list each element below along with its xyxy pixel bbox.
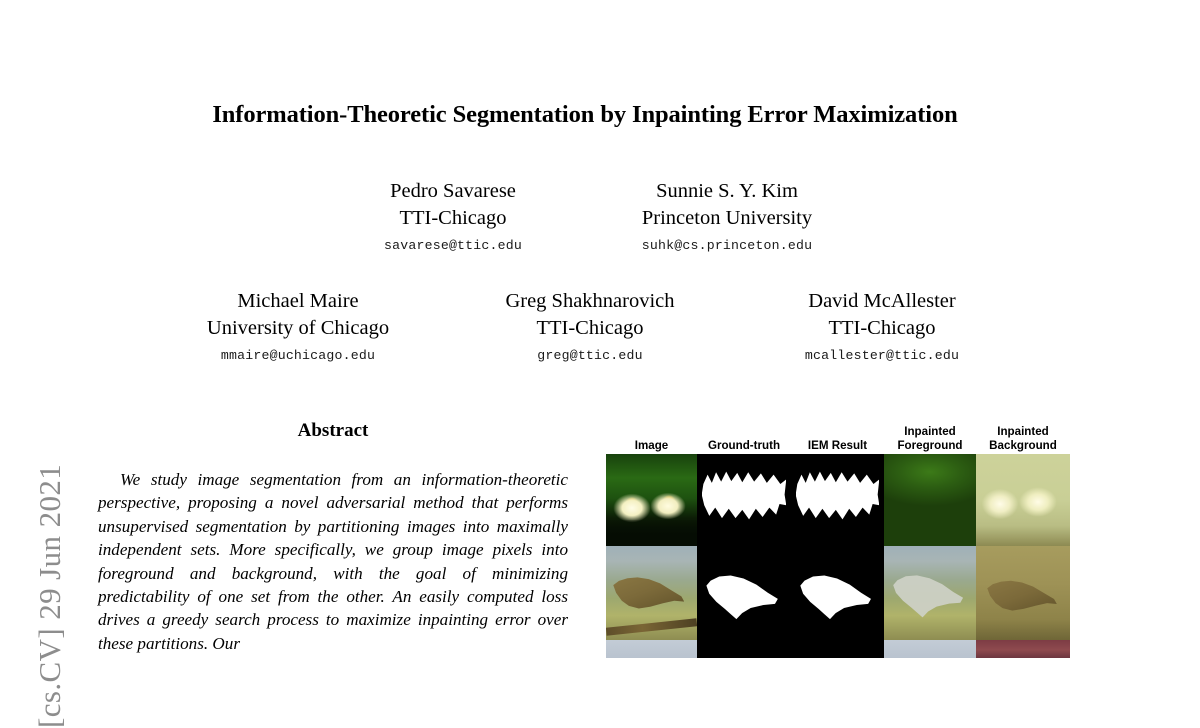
author-block-maire: Michael Maire University of Chicago mmai… (152, 288, 444, 367)
figure-cell-ground-truth-mask (697, 640, 791, 658)
figure-cell-inpainted-background (976, 454, 1070, 546)
figure-row-warbler-bird (606, 546, 1070, 640)
figure-column-header-ground-truth: Ground-truth (697, 439, 791, 455)
figure-column-header-inpainted-background: Inpainted Background (976, 425, 1070, 454)
header-line-2: Foreground (884, 439, 976, 453)
header-line-1: IEM Result (791, 439, 884, 453)
figure-cell-ground-truth-mask (697, 454, 791, 546)
page-title: Information-Theoretic Segmentation by In… (80, 100, 1090, 130)
header-line-1: Inpainted (976, 425, 1070, 439)
author-email[interactable]: suhk@cs.princeton.edu (602, 235, 852, 257)
author-affiliation: TTI-Chicago (456, 315, 724, 342)
author-block-kim: Sunnie S. Y. Kim Princeton University su… (590, 178, 864, 257)
author-row-secondary: Michael Maire University of Chicago mmai… (150, 288, 1030, 367)
author-email[interactable]: mcallester@ttic.edu (748, 345, 1016, 367)
author-row-primary: Pedro Savarese TTI-Chicago savarese@ttic… (300, 178, 880, 257)
header-line-1: Inpainted (884, 425, 976, 439)
author-affiliation: University of Chicago (164, 315, 432, 342)
arxiv-stamp: [cs.CV] 29 Jun 2021 (0, 0, 80, 648)
header-line-1: Image (606, 439, 697, 453)
figure-cell-iem-result-mask (791, 640, 884, 658)
figure-column-header-inpainted-foreground: Inpainted Foreground (884, 425, 976, 454)
abstract-body: We study image segmentation from an info… (98, 468, 568, 655)
header-line-2: Background (976, 439, 1070, 453)
figure-cell-inpainted-foreground (884, 454, 976, 546)
figure-cell-image (606, 546, 697, 640)
author-affiliation: TTI-Chicago (328, 205, 578, 232)
author-block-shakhnarovich: Greg Shakhnarovich TTI-Chicago greg@ttic… (444, 288, 736, 367)
author-name: Sunnie S. Y. Kim (602, 178, 852, 205)
figure-column-header-image: Image (606, 439, 697, 455)
author-block-mcallester: David McAllester TTI-Chicago mcallester@… (736, 288, 1028, 367)
figure-cell-inpainted-foreground (884, 640, 976, 658)
author-name: Michael Maire (164, 288, 432, 315)
teaser-figure: Image Ground-truth IEM Result Inpainted … (606, 420, 1070, 658)
figure-row-water-lilies (606, 454, 1070, 546)
figure-cell-ground-truth-mask (697, 546, 791, 640)
arxiv-stamp-text: [cs.CV] 29 Jun 2021 (32, 168, 68, 728)
author-name: Pedro Savarese (328, 178, 578, 205)
author-block-savarese: Pedro Savarese TTI-Chicago savarese@ttic… (316, 178, 590, 257)
author-name: Greg Shakhnarovich (456, 288, 724, 315)
figure-column-header-iem-result: IEM Result (791, 439, 884, 455)
figure-cell-image (606, 640, 697, 658)
figure-cell-iem-result-mask (791, 546, 884, 640)
figure-cell-image (606, 454, 697, 546)
figure-column-headers: Image Ground-truth IEM Result Inpainted … (606, 420, 1070, 454)
author-email[interactable]: greg@ttic.edu (456, 345, 724, 367)
figure-row-third-sample (606, 640, 1070, 658)
figure-cell-inpainted-background (976, 640, 1070, 658)
header-line-1: Ground-truth (697, 439, 791, 453)
author-name: David McAllester (748, 288, 1016, 315)
figure-cell-inpainted-background (976, 546, 1070, 640)
abstract-section: Abstract We study image segmentation fro… (98, 420, 568, 655)
author-affiliation: Princeton University (602, 205, 852, 232)
figure-cell-iem-result-mask (791, 454, 884, 546)
abstract-heading: Abstract (98, 420, 568, 442)
author-email[interactable]: mmaire@uchicago.edu (164, 345, 432, 367)
author-email[interactable]: savarese@ttic.edu (328, 235, 578, 257)
figure-cell-inpainted-foreground (884, 546, 976, 640)
author-affiliation: TTI-Chicago (748, 315, 1016, 342)
